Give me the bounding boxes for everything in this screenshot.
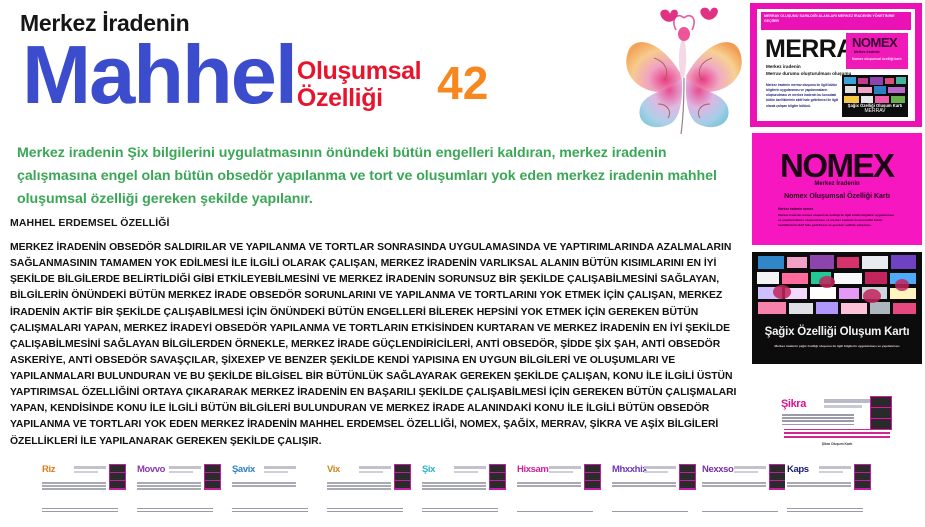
thumbnail-footer [42, 508, 118, 514]
thumbnail-strip: Riz Movvo Şavix Vix [40, 462, 800, 524]
sikra-footer-label: Şikra Oluşum Kartı [778, 442, 896, 446]
thumbnail-lines [702, 482, 766, 488]
sagix-collage-icon [752, 252, 922, 326]
sikra-footer-rules [784, 429, 890, 440]
thumbnail-head-rule-2 [644, 471, 668, 473]
thumbnail-head-rule [359, 466, 391, 469]
merrav-collage-chip[interactable]: MERRAV Şağix Özelliği Oluşum Kartı [842, 75, 908, 117]
thumbnail-head-rule-2 [549, 471, 573, 473]
thumbnail-lines [327, 482, 391, 491]
thumbnail-lines [232, 482, 296, 488]
thumbnail-lines [517, 482, 581, 488]
nomex-subtitle-2: Nomex Oluşumsal Özelliği Kartı [752, 193, 922, 200]
section-heading: MAHHEL ERDEMSEL ÖZELLİĞİ [10, 217, 170, 229]
thumbnail-chip [489, 464, 506, 490]
page-title: Mahhel Oluşumsal Özelliği 42 [22, 36, 488, 115]
merrav-subtitle-1: Merkez iradenin [766, 64, 801, 69]
svg-text:MERRAV: MERRAV [864, 108, 886, 114]
title-subtitle-line2: Özelliği [297, 84, 383, 112]
thumbnail-chip [769, 464, 786, 490]
thumbnail-footer [327, 508, 403, 514]
thumbnail-lines [787, 482, 851, 488]
merrav-card-inner: MERRAV OLUŞUMU SARILDIĞI ALANLARI MERKEZ… [757, 9, 915, 121]
title-subtitle-line1: Oluşumsal [297, 57, 421, 85]
thumbnail-head-rule [169, 466, 201, 469]
thumbnail-head-rule [264, 466, 296, 469]
thumbnail-footer [232, 508, 308, 514]
sikra-head-rule-1 [824, 399, 870, 403]
thumbnail-footer [422, 508, 498, 514]
thumbnail-chip [854, 464, 871, 490]
nomex-small-heading: Merkez iradenin nomex [778, 207, 813, 211]
thumbnail-label: Hixsam [517, 464, 548, 475]
thumbnail-footer [137, 508, 213, 514]
thumbnail-head-rule-2 [819, 471, 843, 473]
sikra-head-rule-2 [824, 405, 862, 408]
thumbnail-label: Vix [327, 464, 340, 475]
merrav-nomex-chip-sub2: Nomex oluşumsal özelliği kartı [852, 57, 902, 61]
thumbnail-card[interactable]: Şix [420, 462, 512, 520]
sagix-title: Şağix Özelliği Oluşum Kartı [752, 326, 922, 338]
thumbnail-lines [42, 482, 106, 491]
thumbnail-label: Movvo [137, 464, 165, 475]
thumbnail-card[interactable]: Movvo [135, 462, 227, 520]
merrav-nomex-chip[interactable]: NOMEX Merkez iradenin Nomex oluşumsal öz… [846, 33, 908, 69]
thumbnail-chip [204, 464, 221, 490]
poster-canvas: Merkez İradenin Mahhel Oluşumsal Özelliğ… [0, 0, 925, 527]
merrav-collage-label: Şağix Özelliği Oluşum Kartı [842, 103, 908, 108]
thumbnail-head-rule-2 [454, 471, 478, 473]
merrav-nomex-chip-title: NOMEX [852, 35, 897, 50]
thumbnail-footer [612, 511, 688, 514]
thumbnail-head-rule-2 [74, 471, 98, 473]
thumbnail-card[interactable]: Hixsam [515, 462, 607, 520]
section-body-text: MERKEZ İRADENİN OBSEDÖR SALDIRILAR VE YA… [10, 240, 746, 450]
merrav-subtitle-2: Merrav durumu oluşturulması oluşumu [766, 71, 851, 76]
merrav-body-text: Merkez iradenin merrav oluşumu ile ilgil… [766, 83, 840, 109]
thumbnail-chip [679, 464, 696, 490]
sikra-title: Şikra [781, 398, 806, 410]
thumbnail-head-rule [454, 466, 486, 469]
thumbnail-lines [422, 482, 486, 491]
nomex-subtitle-1: Merkez İradenin [752, 181, 922, 187]
thumbnail-footer [702, 511, 778, 514]
title-main-word: Mahhel [22, 36, 296, 115]
nomex-title: NOMEX [780, 147, 894, 185]
thumbnail-head-rule [74, 466, 106, 469]
thumbnail-head-rule-2 [734, 471, 758, 473]
thumbnail-footer [787, 508, 863, 514]
thumbnail-label: Nexxso [702, 464, 733, 475]
sagix-card[interactable]: Şağix Özelliği Oluşum Kartı Merkez irade… [752, 252, 922, 364]
thumbnail-card[interactable]: Şavix [230, 462, 322, 520]
thumbnail-label: Kaps [787, 464, 809, 475]
thumbnail-label: Riz [42, 464, 55, 475]
sagix-collage-tiles [752, 252, 922, 326]
nomex-body-text: Merkez iradenin nomex oluşumsal özelliği… [778, 213, 896, 227]
thumbnail-footer [517, 511, 593, 514]
thumbnail-head-rule-2 [359, 471, 383, 473]
thumbnail-head-rule [819, 466, 851, 469]
thumbnail-card[interactable]: Mhxxhix [610, 462, 702, 520]
thumbnail-card[interactable]: Vix [325, 462, 417, 520]
sikra-text-lines [782, 414, 854, 427]
thumbnail-lines [137, 482, 201, 491]
intro-paragraph: Merkez iradenin Şix bilgilerini uygulatm… [17, 142, 739, 211]
sikra-card[interactable]: Şikra Şikra Oluşum Kartı [778, 392, 896, 446]
thumbnail-head-rule [549, 466, 581, 469]
merrav-banner: MERRAV OLUŞUMU SARILDIĞI ALANLARI MERKEZ… [761, 12, 911, 30]
thumbnail-head-rule-2 [169, 471, 193, 473]
thumbnail-head-rule [734, 466, 766, 469]
title-subtitle: Oluşumsal Özelliği [297, 58, 421, 112]
nomex-card[interactable]: NOMEX Merkez İradenin Nomex Oluşumsal Öz… [752, 133, 922, 245]
title-number-badge: 42 [437, 60, 488, 106]
thumbnail-chip [394, 464, 411, 490]
thumbnail-chip [109, 464, 126, 490]
sikra-thumbnail-chip [870, 396, 892, 430]
thumbnail-chip [584, 464, 601, 490]
thumbnail-head-rule [644, 466, 676, 469]
thumbnail-card[interactable]: Kaps [785, 462, 877, 520]
thumbnail-label: Şix [422, 464, 435, 475]
collage-thumbnail-icon: MERRAV [842, 75, 908, 117]
thumbnail-card[interactable]: Riz [40, 462, 132, 520]
thumbnail-label: Mhxxhix [612, 464, 647, 475]
thumbnail-lines [612, 482, 676, 488]
merrav-card[interactable]: MERRAV OLUŞUMU SARILDIĞI ALANLARI MERKEZ… [750, 3, 922, 127]
butterfly-icon [618, 4, 750, 138]
thumbnail-head-rule-2 [264, 471, 288, 473]
sagix-subtitle: Merkez iradenin şağix özelliği oluşumu i… [766, 344, 908, 349]
thumbnail-label: Şavix [232, 464, 255, 475]
merrav-nomex-chip-sub: Merkez iradenin [854, 50, 880, 54]
thumbnail-card[interactable]: Nexxso [700, 462, 792, 520]
